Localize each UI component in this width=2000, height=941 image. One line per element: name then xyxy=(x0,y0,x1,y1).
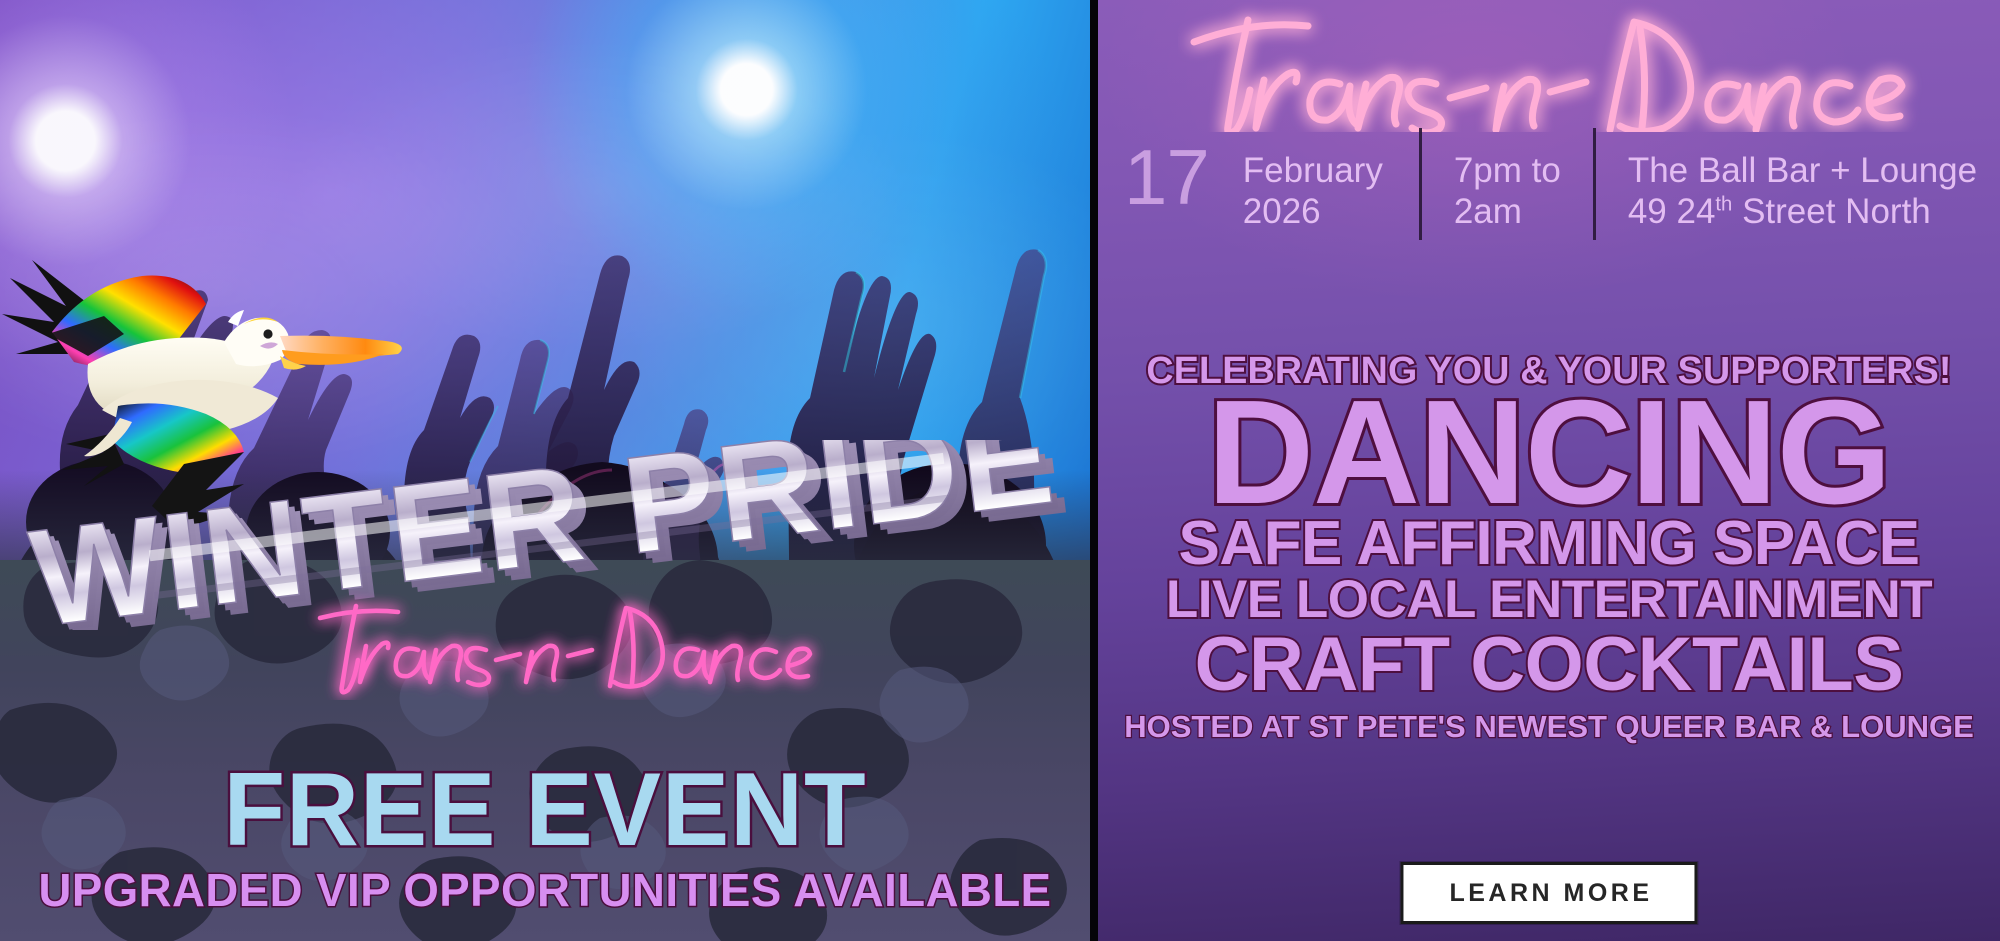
event-month: February xyxy=(1243,150,1383,191)
event-meta-row: 17 February 2026 7pm to 2am The Ball Bar… xyxy=(1098,150,2000,240)
event-time-start: 7pm to xyxy=(1454,150,1561,191)
headline-craft-cocktails: CRAFT COCKTAILS xyxy=(1098,628,2000,702)
vip-opportunities-line: UPGRADED VIP OPPORTUNITIES AVAILABLE xyxy=(5,867,1084,913)
right-info-panel: 17 February 2026 7pm to 2am The Ball Bar… xyxy=(1098,0,2000,941)
headline-celebrating: CELEBRATING YOU & YOUR SUPPORTERS! xyxy=(1103,352,1996,390)
trans-n-dance-neon-script-left xyxy=(300,590,860,700)
meta-separator-2 xyxy=(1593,128,1596,240)
event-time: 7pm to 2am xyxy=(1454,150,1561,233)
meta-separator-1 xyxy=(1419,128,1422,240)
trans-n-dance-neon-script-right xyxy=(1178,2,1998,132)
headline-stack: CELEBRATING YOU & YOUR SUPPORTERS! DANCI… xyxy=(1098,352,2000,742)
left-hero-panel: WINTER PRIDE WINTER PRIDE WINTER PRIDE xyxy=(0,0,1090,941)
panel-divider xyxy=(1090,0,1098,941)
venue-name: The Ball Bar + Lounge xyxy=(1628,150,1977,191)
learn-more-button[interactable]: LEARN MORE xyxy=(1400,862,1697,924)
headline-hosted-at: HOSTED AT ST PETE'S NEWEST QUEER BAR & L… xyxy=(1098,711,2000,742)
event-venue: The Ball Bar + Lounge 49 24th Street Nor… xyxy=(1628,150,1977,233)
event-day-number: 17 xyxy=(1116,144,1243,211)
free-event-headline: FREE EVENT xyxy=(16,763,1073,859)
venue-address: 49 24th Street North xyxy=(1628,191,1977,232)
event-year: 2026 xyxy=(1243,191,1383,232)
headline-dancing: DANCING xyxy=(1098,388,2000,518)
venue-address-number: 49 24 xyxy=(1628,192,1716,231)
venue-address-ordinal: th xyxy=(1715,194,1732,216)
headline-safe-space: SAFE AFFIRMING SPACE xyxy=(1098,514,2000,574)
venue-address-street: Street North xyxy=(1732,192,1930,231)
free-event-block: FREE EVENT UPGRADED VIP OPPORTUNITIES AV… xyxy=(0,763,1090,913)
event-month-year: February 2026 xyxy=(1243,150,1387,233)
event-promo-banner: WINTER PRIDE WINTER PRIDE WINTER PRIDE xyxy=(0,0,2000,941)
event-time-end: 2am xyxy=(1454,191,1561,232)
headline-live-local: LIVE LOCAL ENTERTAINMENT xyxy=(1098,574,2000,626)
